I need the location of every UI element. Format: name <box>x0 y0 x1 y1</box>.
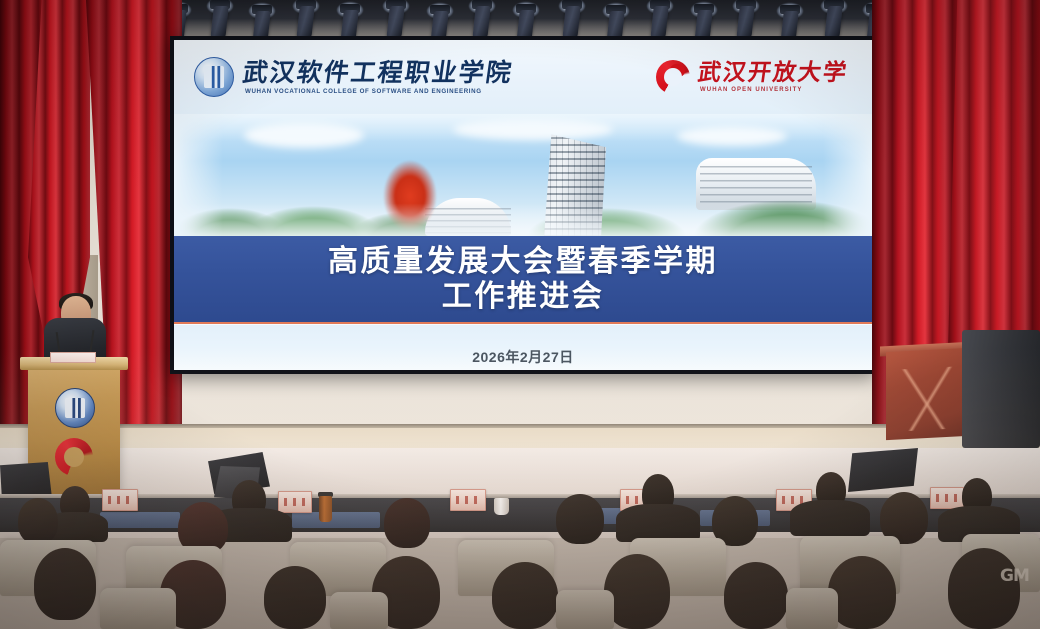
college-name-cn: 武汉软件工程职业学院 <box>241 60 515 85</box>
auditorium-seat <box>100 588 176 629</box>
thermos-cup <box>319 496 332 522</box>
paper-cup <box>494 498 509 515</box>
delegate-name-placard <box>450 489 486 511</box>
campus-panorama-photo <box>174 114 872 238</box>
audience-shoulders <box>616 504 700 542</box>
auditorium-seat <box>330 592 388 629</box>
desk-pad <box>100 512 180 528</box>
audience-head <box>492 562 558 629</box>
audience-shoulders <box>790 500 870 536</box>
audience-head <box>18 498 58 544</box>
podium-college-emblem-icon <box>55 388 95 428</box>
floor-monitor-speaker <box>848 448 918 492</box>
equipment-rack <box>962 330 1040 448</box>
university-name-cn: 武汉开放大学 <box>696 61 849 84</box>
delegate-name-placard <box>102 489 138 511</box>
audience-head <box>556 494 604 544</box>
photo-edge-fade <box>174 114 872 238</box>
auditorium-seat <box>556 590 614 629</box>
conference-hall-photo: 武汉软件工程职业学院 WUHAN VOCATIONAL COLLEGE OF S… <box>0 0 1040 629</box>
auditorium-seat <box>786 588 838 629</box>
audience-head <box>34 548 96 620</box>
audience-head <box>948 548 1020 629</box>
podium-university-emblem-icon <box>55 438 93 476</box>
screen-content: 武汉软件工程职业学院 WUHAN VOCATIONAL COLLEGE OF S… <box>174 40 872 370</box>
college-name-en: WUHAN VOCATIONAL COLLEGE OF SOFTWARE AND… <box>245 88 513 95</box>
conference-date: 2026年2月27日 <box>174 347 872 367</box>
delegate-name-placard <box>930 487 964 509</box>
podium-name-card <box>50 352 96 363</box>
screen-date-area: 2026年2月27日 <box>174 325 872 370</box>
red-swirl-emblem-icon <box>656 60 690 94</box>
conference-title-line-1: 高质量发展大会暨春季学期 <box>328 244 718 279</box>
audience-head <box>384 498 430 548</box>
college-logo-group: 武汉软件工程职业学院 WUHAN VOCATIONAL COLLEGE OF S… <box>194 57 513 97</box>
university-name-en: WUHAN OPEN UNIVERSITY <box>700 87 848 93</box>
audience-head <box>828 556 896 629</box>
university-logo-group: 武汉开放大学 WUHAN OPEN UNIVERSITY <box>656 60 848 94</box>
screen-title-banner: 高质量发展大会暨春季学期 工作推进会 <box>174 236 872 324</box>
screen-logo-bar: 武汉软件工程职业学院 WUHAN VOCATIONAL COLLEGE OF S… <box>174 40 872 114</box>
conference-title-line-2: 工作推进会 <box>442 279 605 314</box>
college-shield-emblem-icon <box>194 57 234 97</box>
delegate-name-placard <box>278 491 312 513</box>
desk-pad <box>292 512 380 528</box>
led-presentation-screen[interactable]: 武汉软件工程职业学院 WUHAN VOCATIONAL COLLEGE OF S… <box>170 36 876 374</box>
lectern-right <box>886 348 968 440</box>
shirt-text: GM <box>1000 566 1029 586</box>
audience-head <box>264 566 326 629</box>
audience-head <box>724 562 788 629</box>
